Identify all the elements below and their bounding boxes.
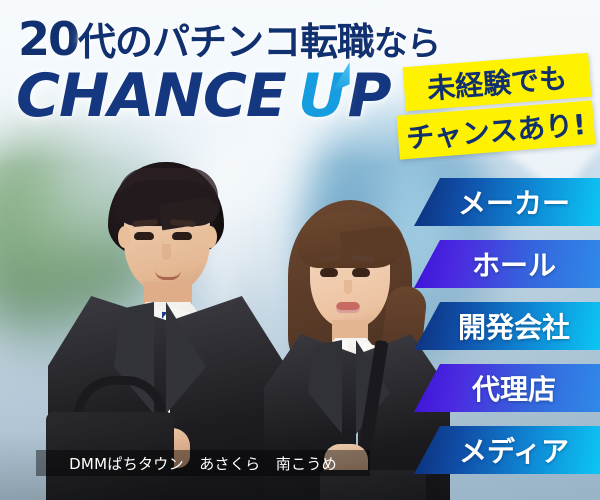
logo-u-letter: U xyxy=(298,66,346,126)
category-item-hall[interactable]: ホール xyxy=(414,240,600,288)
badge-no-experience-label: 未経験でも xyxy=(426,57,569,108)
logo-chance-text: CHANCE xyxy=(16,61,286,131)
female-eye-left xyxy=(320,268,338,277)
category-label-maker: メーカー xyxy=(414,182,600,222)
headline-suffix: なら xyxy=(374,24,440,64)
female-mouth xyxy=(336,302,360,313)
models-photo xyxy=(0,140,440,500)
male-fringe xyxy=(114,180,220,226)
male-ear-left xyxy=(118,226,131,248)
category-item-media[interactable]: メディア xyxy=(414,426,600,474)
headline-text: 20代のパチンコ転職なら xyxy=(18,16,440,62)
category-list: メーカー ホール 開発会社 代理店 メディア xyxy=(414,178,600,488)
category-item-maker[interactable]: メーカー xyxy=(414,178,600,226)
category-label-hall: ホール xyxy=(414,244,600,284)
male-eye-left xyxy=(134,232,154,240)
female-eye-right xyxy=(352,268,370,277)
credit-caption-text: DMMぱちタウン あさくら 南こうめ xyxy=(69,453,337,474)
male-nose xyxy=(162,244,171,260)
chance-up-logo: CHANCEUP xyxy=(16,66,391,126)
logo-p-text: P xyxy=(348,61,391,131)
category-item-development-company[interactable]: 開発会社 xyxy=(414,302,600,350)
male-ear-right xyxy=(204,226,217,248)
advertisement-banner[interactable]: 20代のパチンコ転職なら CHANCEUP 未経験でも チャンスあり! メーカー… xyxy=(0,0,600,500)
category-item-agency[interactable]: 代理店 xyxy=(414,364,600,412)
category-label-development-company: 開発会社 xyxy=(414,306,600,346)
headline-number: 20 xyxy=(18,12,78,66)
female-nose xyxy=(344,280,352,294)
male-eye-right xyxy=(172,232,192,240)
category-label-agency: 代理店 xyxy=(414,368,600,408)
headline-body: 代のパチンコ転職 xyxy=(78,20,374,64)
logo-u-text: U xyxy=(298,61,346,131)
category-label-media: メディア xyxy=(414,430,600,470)
female-fringe xyxy=(298,212,404,268)
credit-caption: DMMぱちタウン あさくら 南こうめ xyxy=(36,450,370,476)
